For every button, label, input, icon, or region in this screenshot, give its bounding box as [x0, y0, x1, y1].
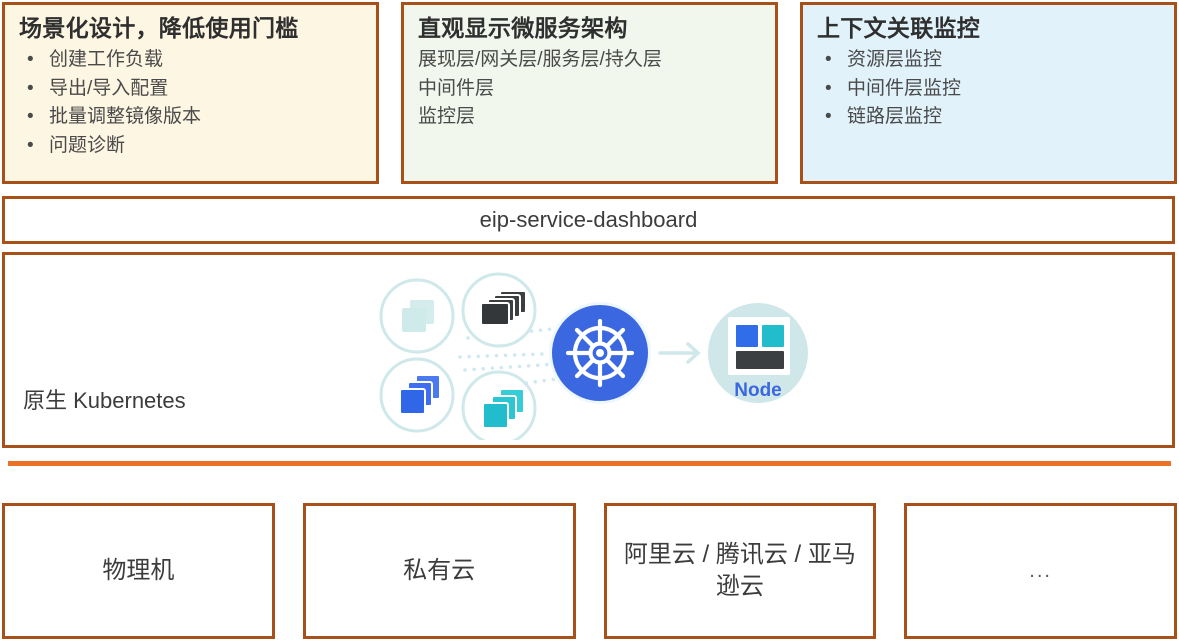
infra-card-private-cloud: 私有云 [303, 503, 576, 639]
node-block-blue [736, 325, 758, 347]
flow-arrow-icon [660, 344, 698, 362]
feature-card-title: 场景化设计，降低使用门槛 [19, 13, 362, 44]
list-item: •批量调整镜像版本 [19, 103, 362, 132]
list-item-label: 链路层监控 [847, 106, 942, 127]
workload-circle-cyan [463, 372, 535, 440]
workload-circle-blue [381, 359, 453, 431]
bullet-icon: • [825, 75, 832, 104]
list-item: •问题诊断 [19, 132, 362, 161]
list-item-label: 导出/导入配置 [49, 78, 168, 99]
bullet-icon: • [27, 132, 34, 161]
node-block-cyan [762, 325, 784, 347]
list-item-label: 创建工作负载 [49, 49, 163, 70]
infra-card-public-cloud: 阿里云 / 腾讯云 / 亚马逊云 [604, 503, 877, 639]
kubernetes-band: 原生 Kubernetes [2, 252, 1175, 448]
list-item: 展现层/网关层/服务层/持久层 [418, 46, 761, 75]
infra-card-label: 物理机 [102, 555, 174, 587]
infrastructure-row: 物理机 私有云 阿里云 / 腾讯云 / 亚马逊云 ... [0, 503, 1179, 639]
section-divider [8, 461, 1171, 466]
list-item-label: 批量调整镜像版本 [49, 106, 201, 127]
helm-wheel-center-dot [596, 349, 604, 357]
kubernetes-logo-circle [549, 302, 651, 404]
list-item-label: 监控层 [418, 106, 475, 127]
list-item: •导出/导入配置 [19, 75, 362, 104]
workload-circle-light [381, 280, 453, 352]
infra-card-label: 阿里云 / 腾讯云 / 亚马逊云 [623, 539, 858, 604]
list-item: 监控层 [418, 103, 761, 132]
bullet-icon: • [27, 103, 34, 132]
infra-card-label: 私有云 [403, 555, 475, 587]
infra-card-label: ... [1029, 558, 1052, 585]
bullet-icon: • [27, 75, 34, 104]
node-circle: Node [708, 303, 808, 403]
feature-card-microservice-architecture: 直观显示微服务架构 展现层/网关层/服务层/持久层 中间件层 监控层 [401, 2, 778, 184]
infra-card-more: ... [904, 503, 1177, 639]
dashboard-band: eip-service-dashboard [2, 196, 1175, 244]
dashboard-label: eip-service-dashboard [480, 207, 698, 233]
workload-circle-dark [463, 274, 535, 346]
feature-card-list: •创建工作负载 •导出/导入配置 •批量调整镜像版本 •问题诊断 [19, 46, 362, 160]
architecture-diagram: 场景化设计，降低使用门槛 •创建工作负载 •导出/导入配置 •批量调整镜像版本 … [0, 0, 1179, 641]
node-label: Node [734, 380, 782, 401]
feature-card-title: 上下文关联监控 [817, 13, 1160, 44]
infra-card-physical-machine: 物理机 [2, 503, 275, 639]
bullet-icon: • [27, 46, 34, 75]
list-item-label: 中间件层 [418, 78, 494, 99]
bullet-icon: • [825, 103, 832, 132]
list-item: •资源层监控 [817, 46, 1160, 75]
feature-card-title: 直观显示微服务架构 [418, 13, 761, 44]
bullet-icon: • [825, 46, 832, 75]
kubernetes-illustration: Node [360, 265, 820, 440]
list-item-label: 中间件层监控 [847, 78, 961, 99]
feature-card-context-monitoring: 上下文关联监控 •资源层监控 •中间件层监控 •链路层监控 [800, 2, 1177, 184]
list-item-label: 问题诊断 [49, 135, 125, 156]
list-item: •链路层监控 [817, 103, 1160, 132]
list-item: •创建工作负载 [19, 46, 362, 75]
feature-card-scenario-design: 场景化设计，降低使用门槛 •创建工作负载 •导出/导入配置 •批量调整镜像版本 … [2, 2, 379, 184]
list-item-label: 展现层/网关层/服务层/持久层 [418, 49, 662, 70]
list-item: •中间件层监控 [817, 75, 1160, 104]
feature-card-list: •资源层监控 •中间件层监控 •链路层监控 [817, 46, 1160, 132]
node-block-dark [736, 351, 784, 369]
feature-card-list: 展现层/网关层/服务层/持久层 中间件层 监控层 [418, 46, 761, 132]
kubernetes-label: 原生 Kubernetes [23, 383, 186, 415]
list-item-label: 资源层监控 [847, 49, 942, 70]
feature-card-row: 场景化设计，降低使用门槛 •创建工作负载 •导出/导入配置 •批量调整镜像版本 … [0, 2, 1179, 184]
list-item: 中间件层 [418, 75, 761, 104]
